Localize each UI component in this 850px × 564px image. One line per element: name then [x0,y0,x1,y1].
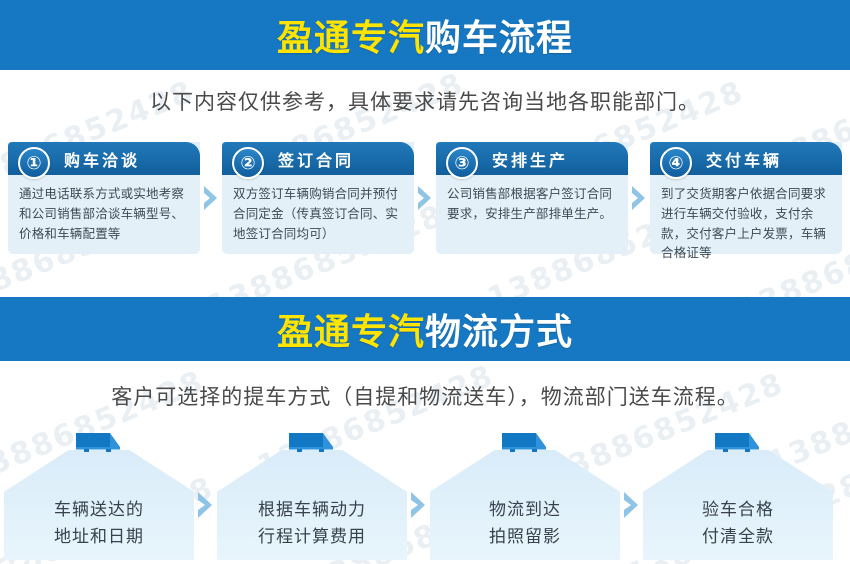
logistics-step-line1: 车辆送达的 [4,497,194,525]
purchase-step-title: 购车洽谈 [64,147,140,171]
logistics-step-text: 验车合格 付清全款 [643,497,833,552]
logistics-banner: 盈通专汽物流方式 [0,297,850,361]
purchase-banner-text: 盈通专汽购车流程 [277,9,573,61]
purchase-step-card: ③ 安排生产 公司销售部根据客户签订合同要求，安排生产部排单生产。 [436,142,628,254]
logistics-subtitle: 客户可选择的提车方式（自提和物流送车），物流部门送车流程。 [0,381,850,411]
purchase-step-body: 到了交货期客户依据合同要求进行车辆交付验收，支付余款，交付客户上户发票，车辆合格… [650,175,842,263]
purchase-step-body: 公司销售部根据客户签订合同要求，安排生产部排单生产。 [436,175,628,224]
logistics-steps-row: 车辆送达的 地址和日期 根据车辆动力 行程计算费用 [4,428,846,560]
purchase-steps-row: ① 购车洽谈 通过电话联系方式或实地考察和公司销售部洽谈车辆型号、价格和车辆配置… [8,142,842,254]
truck-icon [285,430,339,456]
purchase-step-card: ② 签订合同 双方签订车辆购销合同并预付合同定金（传真签订合同、实地签订合同均可… [222,142,414,254]
step-number-badge: ② [232,147,264,179]
logistics-step-line1: 验车合格 [643,497,833,525]
purchase-step-body: 通过电话联系方式或实地考察和公司销售部洽谈车辆型号、价格和车辆配置等 [8,175,200,243]
truck-icon [72,430,126,456]
chevron-right-icon [414,142,436,254]
logistics-step-line2: 行程计算费用 [217,524,407,552]
logistics-step-line2: 地址和日期 [4,524,194,552]
logistics-step-card: 验车合格 付清全款 [643,450,833,560]
purchase-subtitle: 以下内容仅供参考，具体要求请先咨询当地各职能部门。 [0,86,850,116]
purchase-step-header: ④ 交付车辆 [650,142,842,175]
logistics-step-text: 物流到达 拍照留影 [430,497,620,552]
logistics-step-line2: 付清全款 [643,524,833,552]
purchase-banner-title: 购车流程 [425,18,573,59]
truck-icon [711,430,765,456]
purchase-step-header: ② 签订合同 [222,142,414,175]
brand-name: 盈通专汽 [277,18,425,59]
purchase-step-header: ① 购车洽谈 [8,142,200,175]
step-number-badge: ④ [660,147,692,179]
purchase-step-body: 双方签订车辆购销合同并预付合同定金（传真签订合同、实地签订合同均可） [222,175,414,243]
step-number-badge: ① [18,147,50,179]
purchase-step-card: ④ 交付车辆 到了交货期客户依据合同要求进行车辆交付验收，支付余款，交付客户上户… [650,142,842,254]
chevron-right-icon [628,142,650,254]
logistics-banner-text: 盈通专汽物流方式 [277,303,573,355]
chevron-right-icon [407,450,430,560]
purchase-banner: 盈通专汽购车流程 [0,0,850,70]
chevron-right-icon [620,450,643,560]
logistics-step-line2: 拍照留影 [430,524,620,552]
logistics-step-card: 根据车辆动力 行程计算费用 [217,450,407,560]
purchase-step-header: ③ 安排生产 [436,142,628,175]
logistics-step-text: 根据车辆动力 行程计算费用 [217,497,407,552]
purchase-step-card: ① 购车洽谈 通过电话联系方式或实地考察和公司销售部洽谈车辆型号、价格和车辆配置… [8,142,200,254]
truck-icon [498,430,552,456]
logistics-step-card: 物流到达 拍照留影 [430,450,620,560]
logistics-step-line1: 根据车辆动力 [217,497,407,525]
purchase-step-title: 安排生产 [492,147,568,171]
logistics-step-text: 车辆送达的 地址和日期 [4,497,194,552]
purchase-step-title: 交付车辆 [706,147,782,171]
logistics-step-line1: 物流到达 [430,497,620,525]
logistics-banner-title: 物流方式 [425,312,573,353]
chevron-right-icon [200,142,222,254]
purchase-step-title: 签订合同 [278,147,354,171]
logistics-step-card: 车辆送达的 地址和日期 [4,450,194,560]
brand-name: 盈通专汽 [277,312,425,353]
step-number-badge: ③ [446,147,478,179]
chevron-right-icon [194,450,217,560]
